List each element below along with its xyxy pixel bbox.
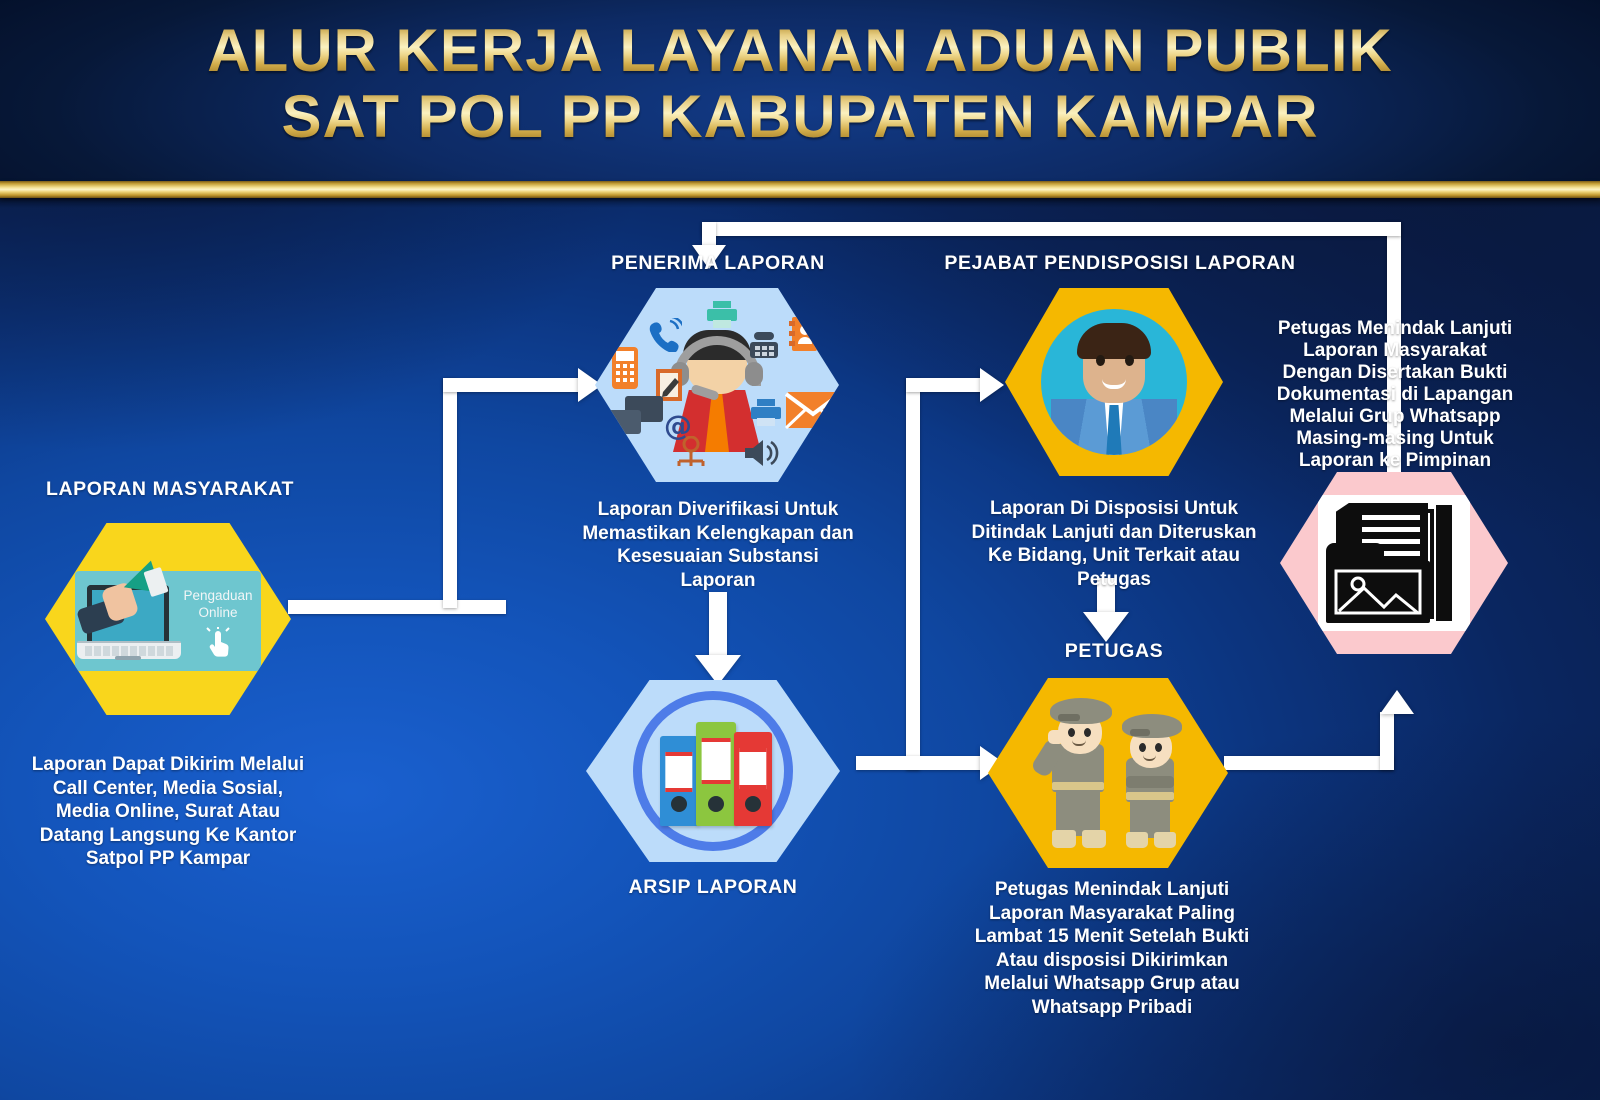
officer-b-belt xyxy=(1126,792,1174,800)
phone-ring-icon xyxy=(648,318,682,352)
caption-penerima-laporan: Laporan Diverifikasi Untuk Memastikan Ke… xyxy=(580,498,856,592)
official-portrait-circle xyxy=(1041,309,1187,455)
officer-b-boot-left xyxy=(1126,832,1148,848)
officer-b-eye-right xyxy=(1155,743,1162,752)
official-hair xyxy=(1077,323,1151,359)
arrow-head-pejabat-to-petugas xyxy=(1083,612,1129,642)
officer-a-eye-right xyxy=(1084,728,1091,737)
header-banner: ALUR KERJA LAYANAN ADUAN PUBLIK SAT POL … xyxy=(0,0,1600,181)
doc-stack-back xyxy=(1436,505,1452,621)
arrow-branch-pejabat xyxy=(906,378,986,392)
officer-b-boot-right xyxy=(1154,832,1176,848)
telephone-icon xyxy=(747,330,781,360)
doc-sheet-line2 xyxy=(1362,527,1420,532)
node-title-laporan-masyarakat: LAPORAN MASYARAKAT xyxy=(20,478,320,501)
printer-icon-top xyxy=(705,300,739,330)
arrow-segment-h2 xyxy=(443,378,583,392)
arrow-head-to-dokumentasi xyxy=(1380,690,1414,714)
binder-label-red xyxy=(739,748,766,789)
officer-a-belt xyxy=(1052,782,1104,790)
doc-sheet-line1 xyxy=(1362,515,1420,520)
arrow-trunk-vertical xyxy=(906,378,920,770)
title-block: ALUR KERJA LAYANAN ADUAN PUBLIK SAT POL … xyxy=(0,18,1600,150)
arrow-loop-top xyxy=(702,222,1401,236)
pengaduan-label-line2: Online xyxy=(198,605,237,620)
laptop-trackpad-icon xyxy=(115,656,141,660)
illustration-dokumentasi xyxy=(1318,495,1470,631)
officer-b-cap-badge xyxy=(1130,729,1150,736)
caption-laporan-masyarakat: Laporan Dapat Dikirim Melalui Call Cente… xyxy=(24,753,312,871)
node-title-penerima-laporan: PENERIMA LAPORAN xyxy=(568,252,868,275)
node-title-petugas: PETUGAS xyxy=(1005,640,1223,663)
arrow-head-to-pejabat xyxy=(980,368,1004,402)
officer-a-boot-right xyxy=(1082,830,1106,848)
binder-hole-blue xyxy=(671,796,687,812)
infographic-canvas: ALUR KERJA LAYANAN ADUAN PUBLIK SAT POL … xyxy=(0,0,1600,1100)
officer-arms-crossed-icon xyxy=(1116,714,1192,856)
page-title-line2: SAT POL PP KABUPATEN KAMPAR xyxy=(0,84,1600,150)
arrow-segment-v4 xyxy=(1380,712,1394,770)
binder-label-green xyxy=(702,738,731,784)
binder-blue-icon xyxy=(660,736,698,826)
officer-a-cap-badge xyxy=(1058,714,1080,721)
binder-hole-green xyxy=(708,796,724,812)
binder-green-icon xyxy=(696,722,736,826)
page-title-line1: ALUR KERJA LAYANAN ADUAN PUBLIK xyxy=(0,18,1600,84)
photo-image-icon xyxy=(1332,567,1424,617)
arrow-segment-v1 xyxy=(443,378,457,608)
speaker-announce-icon xyxy=(743,438,783,468)
caption-dokumentasi: Petugas Menindak Lanjuti Laporan Masyara… xyxy=(1272,318,1518,472)
tap-hand-icon xyxy=(203,627,233,659)
officer-a-eye-left xyxy=(1068,728,1075,737)
arrow-branch-petugas-stem xyxy=(856,756,986,770)
caption-pejabat-pendisposisi: Laporan Di Disposisi Untuk Ditindak Lanj… xyxy=(968,497,1260,591)
officer-b-crossed-arms xyxy=(1126,776,1174,788)
binder-red-icon xyxy=(734,732,772,826)
gold-divider-bar xyxy=(0,181,1600,198)
official-eye-right xyxy=(1125,355,1134,366)
gold-divider-shadow xyxy=(0,198,1600,208)
arrow-segment-h3 xyxy=(1224,756,1394,770)
arrow-segment-h1 xyxy=(288,600,506,614)
officer-b-eye-left xyxy=(1139,743,1146,752)
officer-a-boot-left xyxy=(1052,830,1076,848)
binder-hole-red xyxy=(745,796,761,812)
node-title-arsip-laporan: ARSIP LAPORAN xyxy=(563,876,863,899)
pengaduan-label-line1: Pengaduan xyxy=(183,588,252,603)
officer-saluting-icon xyxy=(1040,696,1124,856)
node-title-pejabat-pendisposisi: PEJABAT PENDISPOSISI LAPORAN xyxy=(930,252,1310,275)
printer-icon-right xyxy=(749,398,783,428)
binder-label-blue xyxy=(665,752,692,792)
arrow-segment-v2 xyxy=(709,592,727,660)
pengaduan-card: Pengaduan Online xyxy=(75,571,261,671)
laptop-keyboard-icon xyxy=(85,646,173,656)
laptop-base-icon xyxy=(77,641,181,659)
operator-headset-earcup-right xyxy=(745,362,763,386)
network-node-icon xyxy=(673,436,709,470)
pengaduan-online-label: Pengaduan Online xyxy=(179,587,257,621)
caption-petugas: Petugas Menindak Lanjuti Laporan Masyara… xyxy=(968,878,1256,1019)
official-eye-left xyxy=(1096,355,1105,366)
